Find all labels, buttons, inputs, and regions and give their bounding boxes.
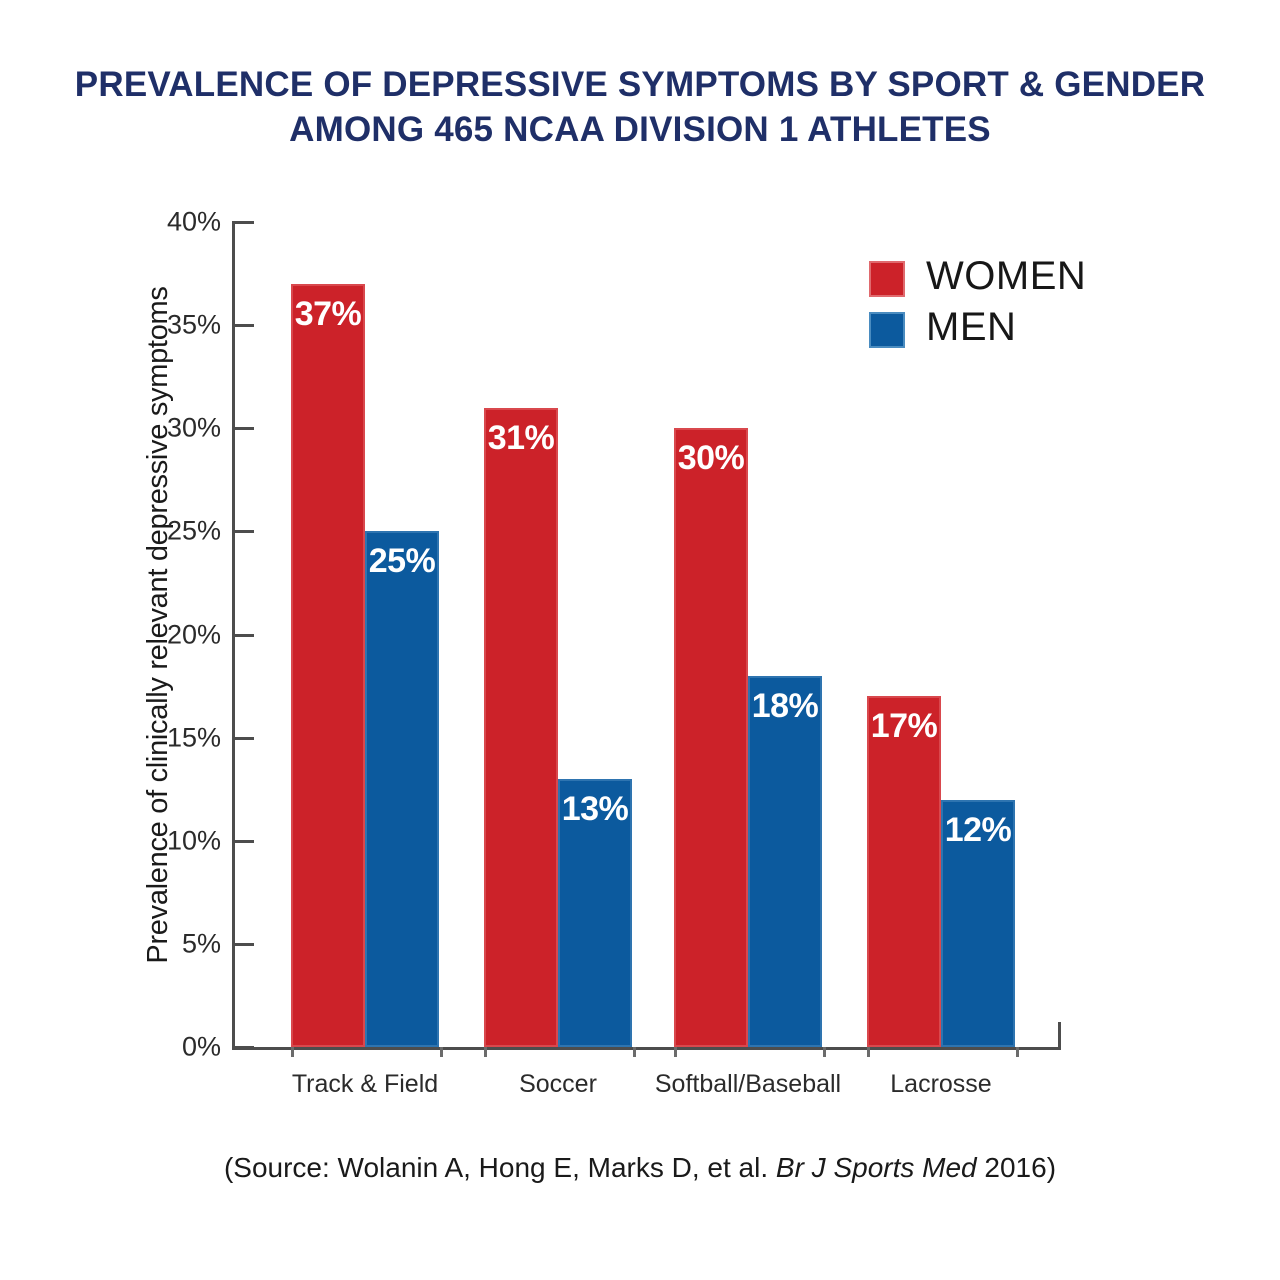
bar-men-3[interactable]: 12% [941,800,1015,1048]
y-axis-tick-label: 5% [101,928,221,959]
bar-value-label: 17% [869,707,939,745]
bar-value-label: 13% [560,790,630,828]
y-axis-tick [232,634,254,637]
x-axis-category-label: Lacrosse [791,1070,1091,1099]
x-axis-line [232,1047,1061,1050]
x-axis-tick [484,1047,487,1057]
legend-label-women: WOMEN [926,254,1086,299]
source-suffix: 2016) [977,1152,1056,1183]
y-axis-tick-label: 0% [101,1032,221,1063]
bar-value-label: 18% [750,687,820,725]
bar-men-1[interactable]: 13% [558,779,632,1047]
y-axis-tick [232,1046,254,1049]
y-axis-tick-label: 10% [101,825,221,856]
bar-women-2[interactable]: 30% [674,428,748,1047]
bar-men-0[interactable]: 25% [365,531,439,1047]
bar-value-label: 30% [676,439,746,477]
x-axis-end-tick [1058,1022,1061,1050]
legend-swatch-men-icon [869,312,905,348]
source-citation: (Source: Wolanin A, Hong E, Marks D, et … [0,1152,1280,1184]
bar-value-label: 25% [367,542,437,580]
x-axis-tick [674,1047,677,1057]
plot-area: Prevalence of clinically relevant depres… [0,0,1280,1280]
y-axis-tick-label: 15% [101,722,221,753]
x-axis-tick [1016,1047,1019,1057]
chart-page: PREVALENCE OF DEPRESSIVE SYMPTOMS BY SPO… [0,0,1280,1280]
y-axis-tick-label: 20% [101,619,221,650]
y-axis-tick-label: 25% [101,516,221,547]
legend-label-men: MEN [926,305,1016,350]
source-prefix: (Source: Wolanin A, Hong E, Marks D, et … [224,1152,776,1183]
y-axis-tick-label: 40% [101,207,221,238]
bar-value-label: 12% [943,811,1013,849]
x-axis-tick [867,1047,870,1057]
y-axis-tick-label: 30% [101,413,221,444]
bar-value-label: 31% [486,419,556,457]
x-axis-tick [440,1047,443,1057]
y-axis-tick [232,737,254,740]
bar-women-3[interactable]: 17% [867,696,941,1047]
bar-women-1[interactable]: 31% [484,408,558,1047]
bar-value-label: 37% [293,295,363,333]
legend-swatch-women-icon [869,261,905,297]
y-axis-tick [232,840,254,843]
bar-men-2[interactable]: 18% [748,676,822,1047]
y-axis-tick-label: 35% [101,310,221,341]
y-axis-tick [232,221,254,224]
x-axis-tick [823,1047,826,1057]
source-journal: Br J Sports Med [776,1152,977,1183]
bar-women-0[interactable]: 37% [291,284,365,1047]
y-axis-tick [232,530,254,533]
y-axis-tick [232,324,254,327]
y-axis-tick [232,427,254,430]
x-axis-tick [633,1047,636,1057]
y-axis-tick [232,943,254,946]
x-axis-tick [291,1047,294,1057]
